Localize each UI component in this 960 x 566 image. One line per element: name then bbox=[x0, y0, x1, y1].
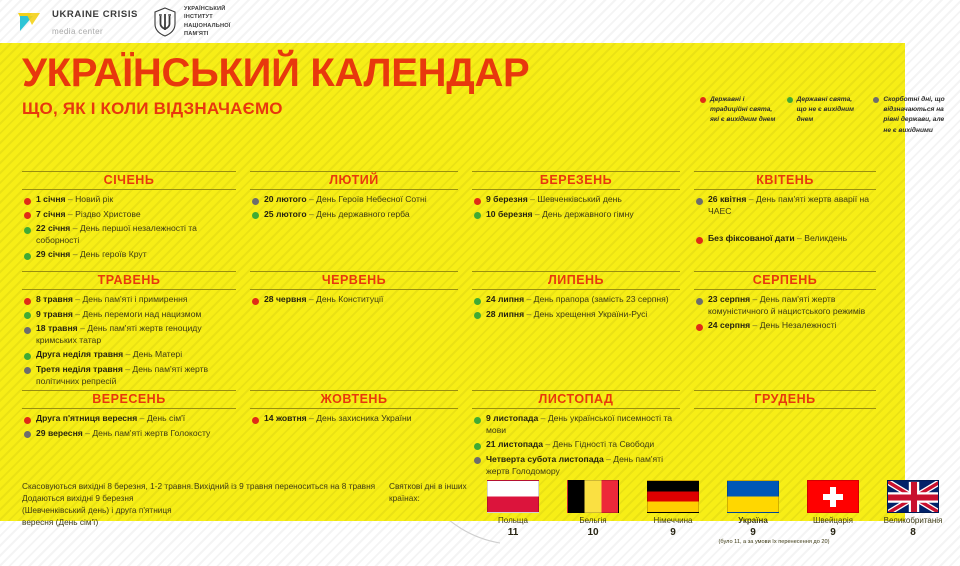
flag-item-великобританія: Великобританія8 bbox=[882, 480, 944, 538]
entry-dash: – bbox=[306, 294, 316, 304]
legend-dot-red bbox=[700, 97, 706, 103]
flag-germany-icon bbox=[647, 480, 699, 513]
entry-description: Різдво Христове bbox=[75, 209, 141, 219]
holiday-type-dot bbox=[474, 443, 481, 450]
flag-country-name: Бельгія bbox=[562, 516, 624, 526]
calendar-entry: 14 жовтня – День захисника України bbox=[252, 413, 458, 425]
ukrainian-trident-emblem-icon bbox=[152, 7, 178, 37]
calendar-entry-text: 23 серпня – День пам'яті жертв комуністи… bbox=[708, 294, 876, 317]
triangle-play-logo-icon bbox=[18, 9, 45, 35]
calendar-entry: 25 лютого – День державного герба bbox=[252, 209, 458, 221]
calendar-entry: 24 серпня – День Незалежності bbox=[696, 320, 876, 332]
page-subtitle: ЩО, ЯК І КОЛИ ВІДЗНАЧАЄМО bbox=[22, 99, 529, 119]
entry-dash: – bbox=[746, 194, 756, 204]
entry-description: Новий рік bbox=[75, 194, 113, 204]
holiday-type-dot bbox=[24, 417, 31, 424]
page-title: УКРАЇНСЬКИЙ КАЛЕНДАР bbox=[22, 53, 529, 93]
flag-switzerland-icon bbox=[807, 480, 859, 513]
entry-description: Шевченківський день bbox=[537, 194, 622, 204]
flag-item-німеччина: Німеччина9 bbox=[642, 480, 704, 538]
calendar-entry: 9 листопада – День української писемност… bbox=[474, 413, 680, 436]
month-cherven: ЧЕРВЕНЬ 28 червня – День Конституції bbox=[246, 271, 468, 390]
calendar-entry-text: 14 жовтня – День захисника України bbox=[264, 413, 412, 425]
entry-date: 22 січня bbox=[36, 223, 70, 233]
legend-dot-gray bbox=[873, 97, 879, 103]
month-title: ЛЮТИЙ bbox=[250, 171, 458, 190]
entry-date: 9 листопада bbox=[486, 413, 538, 423]
entry-dash: – bbox=[66, 194, 76, 204]
entry-description: День перемоги над нацизмом bbox=[82, 309, 201, 319]
legend-item-state-holidays-dayoff: Державні і традиційні свята, які є вихід… bbox=[700, 95, 777, 136]
month-zhovten: ЖОВТЕНЬ 14 жовтня – День захисника Украї… bbox=[246, 390, 468, 482]
month-entries: 28 червня – День Конституції bbox=[250, 294, 458, 306]
flag-item-бельгія: Бельгія10 bbox=[562, 480, 624, 538]
holiday-type-dot bbox=[252, 298, 259, 305]
flag-holiday-count: 10 bbox=[562, 527, 624, 538]
holiday-type-dot bbox=[252, 198, 259, 205]
entry-description: День Конституції bbox=[316, 294, 383, 304]
holiday-type-dot bbox=[252, 417, 259, 424]
holiday-type-dot bbox=[474, 312, 481, 319]
holiday-type-dot bbox=[474, 298, 481, 305]
calendar-entry-text: 25 лютого – День державного герба bbox=[264, 209, 410, 221]
entry-description: День державного гімну bbox=[542, 209, 634, 219]
calendar-entry: 26 квітня – День пам'яті жертв аварії на… bbox=[696, 194, 876, 217]
flag-footnote: (було 11, а за умови їх перенесення до 2… bbox=[714, 538, 834, 546]
uinp-line-2: ІНСТИТУТ bbox=[184, 14, 213, 20]
holiday-type-dot bbox=[24, 367, 31, 374]
holiday-type-dot bbox=[474, 457, 481, 464]
flag-holiday-count: 11 bbox=[482, 527, 544, 538]
flag-belgium-icon bbox=[567, 480, 619, 513]
month-entries: 1 січня – Новий рік7 січня – Різдво Хрис… bbox=[22, 194, 236, 261]
holiday-type-dot bbox=[696, 324, 703, 331]
ukrainian-institute-national-memory-logo: УКРАЇНСЬКИЙ ІНСТИТУТ НАЦІОНАЛЬНОЇ ПАМ'ЯТ… bbox=[152, 5, 231, 38]
holiday-type-dot bbox=[24, 431, 31, 438]
entry-dash: – bbox=[307, 209, 317, 219]
flag-country-name: Україна bbox=[722, 516, 784, 526]
month-title: ЛИСТОПАД bbox=[472, 390, 680, 409]
holiday-type-dot bbox=[24, 353, 31, 360]
entry-description: Великдень bbox=[804, 233, 847, 243]
month-title: СІЧЕНЬ bbox=[22, 171, 236, 190]
entry-date: 28 червня bbox=[264, 294, 306, 304]
entry-description: День Героїв Небесної Сотні bbox=[316, 194, 426, 204]
month-serpen: СЕРПЕНЬ 23 серпня – День пам'яті жертв к… bbox=[690, 271, 886, 390]
month-lypen: ЛИПЕНЬ 24 липня – День прапора (замість … bbox=[468, 271, 690, 390]
calendar-entry: 9 березня – Шевченківський день bbox=[474, 194, 680, 206]
legend-label-2: Державні свята, що не є вихідним днем bbox=[797, 95, 864, 136]
entry-dash: – bbox=[533, 209, 543, 219]
month-lyutyi: ЛЮТИЙ 20 лютого – День Героїв Небесної С… bbox=[246, 171, 468, 271]
calendar-entry-text: 9 березня – Шевченківський день bbox=[486, 194, 622, 206]
entry-dash: – bbox=[123, 349, 133, 359]
entry-dash: – bbox=[524, 309, 534, 319]
calendar-entry: 10 березня – День державного гімну bbox=[474, 209, 680, 221]
calendar-entry-text: Третя неділя травня – День пам'яті жертв… bbox=[36, 364, 236, 387]
entry-date: Четверта субота листопада bbox=[486, 454, 604, 464]
entry-date: 8 травня bbox=[36, 294, 73, 304]
entry-dash: – bbox=[524, 294, 534, 304]
entry-dash: – bbox=[307, 413, 317, 423]
holiday-type-dot bbox=[24, 253, 31, 260]
holiday-type-dot bbox=[24, 312, 31, 319]
calendar-entry: 21 листопада – День Гідності та Свободи bbox=[474, 439, 680, 451]
calendar-entry: 20 лютого – День Героїв Небесної Сотні bbox=[252, 194, 458, 206]
entry-date: Друга п'ятниця вересня bbox=[36, 413, 137, 423]
calendar-entry-text: 24 серпня – День Незалежності bbox=[708, 320, 837, 332]
legend-label-3: Скорботні дні, що відзначаються на рівні… bbox=[883, 95, 950, 136]
entry-description: День Матері bbox=[133, 349, 182, 359]
entry-date: 9 травня bbox=[36, 309, 73, 319]
month-sichen: СІЧЕНЬ 1 січня – Новий рік7 січня – Різд… bbox=[18, 171, 246, 271]
calendar-entry-text: 26 квітня – День пам'яті жертв аварії на… bbox=[708, 194, 876, 217]
entry-dash: – bbox=[750, 294, 760, 304]
month-entries: 8 травня – День пам'яті і примирення9 тр… bbox=[22, 294, 236, 387]
calendar-entry: 29 січня – День героїв Крут bbox=[24, 249, 236, 261]
calendar-entry: Без фіксованої дати – Великдень bbox=[696, 233, 876, 245]
entry-dash: – bbox=[137, 413, 147, 423]
entry-date: 18 травня bbox=[36, 323, 78, 333]
month-lystopad: ЛИСТОПАД 9 листопада – День української … bbox=[468, 390, 690, 482]
calendar-entry: Друга неділя травня – День Матері bbox=[24, 349, 236, 361]
entry-date: 29 вересня bbox=[36, 428, 83, 438]
month-traven: ТРАВЕНЬ 8 травня – День пам'яті і примир… bbox=[18, 271, 246, 390]
footer-notes: Скасовуються вихідні 8 березня, 1-2 трав… bbox=[22, 480, 479, 528]
entry-description: День Незалежності bbox=[760, 320, 837, 330]
note-cancelled-days: Скасовуються вихідні 8 березня, 1-2 трав… bbox=[22, 480, 194, 528]
entry-description: День пам'яті жертв Голокосту bbox=[92, 428, 210, 438]
note-other-countries-label: Святкові дні в інших країнах: bbox=[389, 480, 479, 528]
note-moved-dayoff: Вихідний із 9 травня переноситься на 8 т… bbox=[194, 480, 389, 528]
uinp-line-3: НАЦІОНАЛЬНОЇ bbox=[184, 23, 231, 29]
flag-country-name: Швейцарія bbox=[802, 516, 864, 526]
flag-item-україна: Україна9(було 11, а за умови їх перенесе… bbox=[722, 480, 784, 538]
entry-date: 20 лютого bbox=[264, 194, 307, 204]
calendar-entry: 8 травня – День пам'яті і примирення bbox=[24, 294, 236, 306]
flag-country-name: Польща bbox=[482, 516, 544, 526]
uinp-line-4: ПАМ'ЯТІ bbox=[184, 31, 208, 37]
calendar-entry-text: 7 січня – Різдво Христове bbox=[36, 209, 141, 221]
ucmc-title: UKRAINE CRISIS bbox=[52, 9, 138, 20]
calendar-entry: 1 січня – Новий рік bbox=[24, 194, 236, 206]
entry-dash: – bbox=[604, 454, 614, 464]
month-kviten: КВІТЕНЬ 26 квітня – День пам'яті жертв а… bbox=[690, 171, 886, 271]
entry-dash: – bbox=[70, 223, 80, 233]
entry-date: Третя неділя травня bbox=[36, 364, 123, 374]
calendar-entry: 18 травня – День пам'яті жертв геноциду … bbox=[24, 323, 236, 346]
entry-date: 23 серпня bbox=[708, 294, 750, 304]
entry-date: 1 січня bbox=[36, 194, 66, 204]
month-title: ЛИПЕНЬ bbox=[472, 271, 680, 290]
month-entries: Друга п'ятниця вересня – День сім'ї29 ве… bbox=[22, 413, 236, 439]
holiday-type-dot bbox=[24, 198, 31, 205]
entry-dash: – bbox=[78, 323, 88, 333]
holiday-type-dot bbox=[24, 327, 31, 334]
legend-dot-green bbox=[787, 97, 793, 103]
holiday-type-dot bbox=[474, 198, 481, 205]
month-entries: 24 липня – День прапора (замість 23 серп… bbox=[472, 294, 680, 320]
entry-date: 7 січня bbox=[36, 209, 66, 219]
calendar-entry: Четверта субота листопада – День пам'яті… bbox=[474, 454, 680, 477]
month-entries: 14 жовтня – День захисника України bbox=[250, 413, 458, 425]
entry-dash: – bbox=[528, 194, 538, 204]
legend-item-memorial-days: Скорботні дні, що відзначаються на рівні… bbox=[873, 95, 950, 136]
month-title: КВІТЕНЬ bbox=[694, 171, 876, 190]
main-yellow-panel: УКРАЇНСЬКИЙ КАЛЕНДАР ЩО, ЯК І КОЛИ ВІДЗН… bbox=[0, 43, 905, 521]
month-title: ЧЕРВЕНЬ bbox=[250, 271, 458, 290]
entry-dash: – bbox=[538, 413, 548, 423]
calendar-entry-text: 28 липня – День хрещення України-Русі bbox=[486, 309, 647, 321]
calendar-entry-text: Друга п'ятниця вересня – День сім'ї bbox=[36, 413, 185, 425]
calendar-entry-text: 20 лютого – День Героїв Небесної Сотні bbox=[264, 194, 427, 206]
entry-dash: – bbox=[66, 209, 76, 219]
uinp-wordmark: УКРАЇНСЬКИЙ ІНСТИТУТ НАЦІОНАЛЬНОЇ ПАМ'ЯТ… bbox=[184, 5, 231, 38]
calendar-entry-text: 18 травня – День пам'яті жертв геноциду … bbox=[36, 323, 236, 346]
holiday-type-dot bbox=[474, 212, 481, 219]
entry-date: 29 січня bbox=[36, 249, 70, 259]
calendar-entry-text: 29 січня – День героїв Крут bbox=[36, 249, 147, 261]
entry-description: День Гідності та Свободи bbox=[553, 439, 655, 449]
month-hruden: ГРУДЕНЬ bbox=[690, 390, 886, 482]
calendar-entry: 7 січня – Різдво Христове bbox=[24, 209, 236, 221]
flag-ukraine-icon bbox=[727, 480, 779, 513]
holiday-type-dot bbox=[696, 298, 703, 305]
entry-dash: – bbox=[70, 249, 80, 259]
flag-country-name: Великобританія bbox=[882, 516, 944, 526]
legend: Державні і традиційні свята, які є вихід… bbox=[700, 95, 950, 136]
entry-date: 21 листопада bbox=[486, 439, 543, 449]
calendar-entry-text: 22 січня – День першої незалежності та с… bbox=[36, 223, 236, 246]
month-entries: 9 листопада – День української писемност… bbox=[472, 413, 680, 477]
month-title: ЖОВТЕНЬ bbox=[250, 390, 458, 409]
entry-date: 25 лютого bbox=[264, 209, 307, 219]
flag-country-name: Німеччина bbox=[642, 516, 704, 526]
month-berezen: БЕРЕЗЕНЬ 9 березня – Шевченківський день… bbox=[468, 171, 690, 271]
flag-holiday-count: 8 bbox=[882, 527, 944, 538]
entry-description: День сім'ї bbox=[147, 413, 185, 423]
month-entries: 20 лютого – День Героїв Небесної Сотні25… bbox=[250, 194, 458, 220]
calendar-entry-text: 21 листопада – День Гідності та Свободи bbox=[486, 439, 654, 451]
month-entries: 9 березня – Шевченківський день10 березн… bbox=[472, 194, 680, 220]
entry-date: 24 серпня bbox=[708, 320, 750, 330]
calendar-entry: 28 червня – День Конституції bbox=[252, 294, 458, 306]
holiday-type-dot bbox=[252, 212, 259, 219]
header-logos: UKRAINE CRISIS media center УКРАЇНСЬКИЙ … bbox=[0, 0, 960, 43]
entry-date: 24 липня bbox=[486, 294, 524, 304]
entry-date: Без фіксованої дати bbox=[708, 233, 795, 243]
uinp-line-1: УКРАЇНСЬКИЙ bbox=[184, 6, 225, 12]
entry-description: День державного герба bbox=[316, 209, 410, 219]
calendar-entry: 9 травня – День перемоги над нацизмом bbox=[24, 309, 236, 321]
calendar-entry-text: Четверта субота листопада – День пам'яті… bbox=[486, 454, 680, 477]
calendar-entry: 22 січня – День першої незалежності та с… bbox=[24, 223, 236, 246]
calendar-entry: 28 липня – День хрещення України-Русі bbox=[474, 309, 680, 321]
month-title: БЕРЕЗЕНЬ bbox=[472, 171, 680, 190]
month-title: ТРАВЕНЬ bbox=[22, 271, 236, 290]
calendar-entry-text: Без фіксованої дати – Великдень bbox=[708, 233, 847, 245]
entry-description: День хрещення України-Русі bbox=[534, 309, 648, 319]
calendar-entry: Третя неділя травня – День пам'яті жертв… bbox=[24, 364, 236, 387]
entry-date: 26 квітня bbox=[708, 194, 746, 204]
entry-description: День пам'яті і примирення bbox=[82, 294, 187, 304]
calendar-entry: 29 вересня – День пам'яті жертв Голокост… bbox=[24, 428, 236, 440]
legend-label-1: Державні і традиційні свята, які є вихід… bbox=[710, 95, 777, 136]
entry-dash: – bbox=[795, 233, 805, 243]
ucmc-wordmark: UKRAINE CRISIS media center bbox=[52, 5, 138, 39]
holiday-type-dot bbox=[24, 212, 31, 219]
flag-holiday-count: 9 bbox=[722, 527, 784, 538]
ukraine-crisis-media-center-logo: UKRAINE CRISIS media center bbox=[18, 5, 138, 39]
calendar-entry: 24 липня – День прапора (замість 23 серп… bbox=[474, 294, 680, 306]
entry-date: Друга неділя травня bbox=[36, 349, 123, 359]
entry-dash: – bbox=[123, 364, 133, 374]
calendar-entry-text: 10 березня – День державного гімну bbox=[486, 209, 634, 221]
calendar-entry-text: 1 січня – Новий рік bbox=[36, 194, 113, 206]
ucmc-subtitle: media center bbox=[52, 27, 103, 36]
month-title: СЕРПЕНЬ bbox=[694, 271, 876, 290]
flag-holiday-count: 9 bbox=[642, 527, 704, 538]
flag-item-швейцарія: Швейцарія9 bbox=[802, 480, 864, 538]
entry-description: День захисника України bbox=[316, 413, 411, 423]
calendar-entry-text: 29 вересня – День пам'яті жертв Голокост… bbox=[36, 428, 210, 440]
flag-holiday-count: 9 bbox=[802, 527, 864, 538]
country-flags-row: Польща11Бельгія10Німеччина9Україна9(було… bbox=[482, 480, 960, 538]
month-entries: 26 квітня – День пам'яті жертв аварії на… bbox=[694, 194, 876, 245]
calendar-entry-text: 24 липня – День прапора (замість 23 серп… bbox=[486, 294, 669, 306]
entry-description: День прапора (замість 23 серпня) bbox=[534, 294, 669, 304]
month-grid: СІЧЕНЬ 1 січня – Новий рік7 січня – Різд… bbox=[18, 171, 886, 482]
entry-description: День героїв Крут bbox=[80, 249, 147, 259]
calendar-entry-text: 28 червня – День Конституції bbox=[264, 294, 383, 306]
entry-dash: – bbox=[750, 320, 760, 330]
entry-date: 14 жовтня bbox=[264, 413, 307, 423]
holiday-type-dot bbox=[474, 417, 481, 424]
holiday-type-dot bbox=[24, 298, 31, 305]
legend-item-state-holidays-no-dayoff: Державні свята, що не є вихідним днем bbox=[787, 95, 864, 136]
infographic-page: UKRAINE CRISIS media center УКРАЇНСЬКИЙ … bbox=[0, 0, 960, 566]
flag-item-польща: Польща11 bbox=[482, 480, 544, 538]
entry-date: 9 березня bbox=[486, 194, 528, 204]
holiday-type-dot bbox=[696, 198, 703, 205]
month-title: ГРУДЕНЬ bbox=[694, 390, 876, 409]
calendar-entry-text: 9 травня – День перемоги над нацизмом bbox=[36, 309, 201, 321]
holiday-type-dot bbox=[696, 237, 703, 244]
month-entries: 23 серпня – День пам'яті жертв комуністи… bbox=[694, 294, 876, 332]
month-veresen: ВЕРЕСЕНЬ Друга п'ятниця вересня – День с… bbox=[18, 390, 246, 482]
entry-date: 28 липня bbox=[486, 309, 524, 319]
calendar-entry-text: Друга неділя травня – День Матері bbox=[36, 349, 182, 361]
calendar-entry-text: 9 листопада – День української писемност… bbox=[486, 413, 680, 436]
calendar-entry: Друга п'ятниця вересня – День сім'ї bbox=[24, 413, 236, 425]
entry-date: 10 березня bbox=[486, 209, 533, 219]
calendar-entry-text: 8 травня – День пам'яті і примирення bbox=[36, 294, 188, 306]
flag-united-kingdom-icon bbox=[887, 480, 939, 513]
entry-dash: – bbox=[83, 428, 93, 438]
holiday-type-dot bbox=[24, 227, 31, 234]
entry-dash: – bbox=[543, 439, 553, 449]
entry-dash: – bbox=[307, 194, 317, 204]
flag-poland-icon bbox=[487, 480, 539, 513]
calendar-entry: 23 серпня – День пам'яті жертв комуністи… bbox=[696, 294, 876, 317]
title-block: УКРАЇНСЬКИЙ КАЛЕНДАР ЩО, ЯК І КОЛИ ВІДЗН… bbox=[22, 53, 529, 119]
month-title: ВЕРЕСЕНЬ bbox=[22, 390, 236, 409]
